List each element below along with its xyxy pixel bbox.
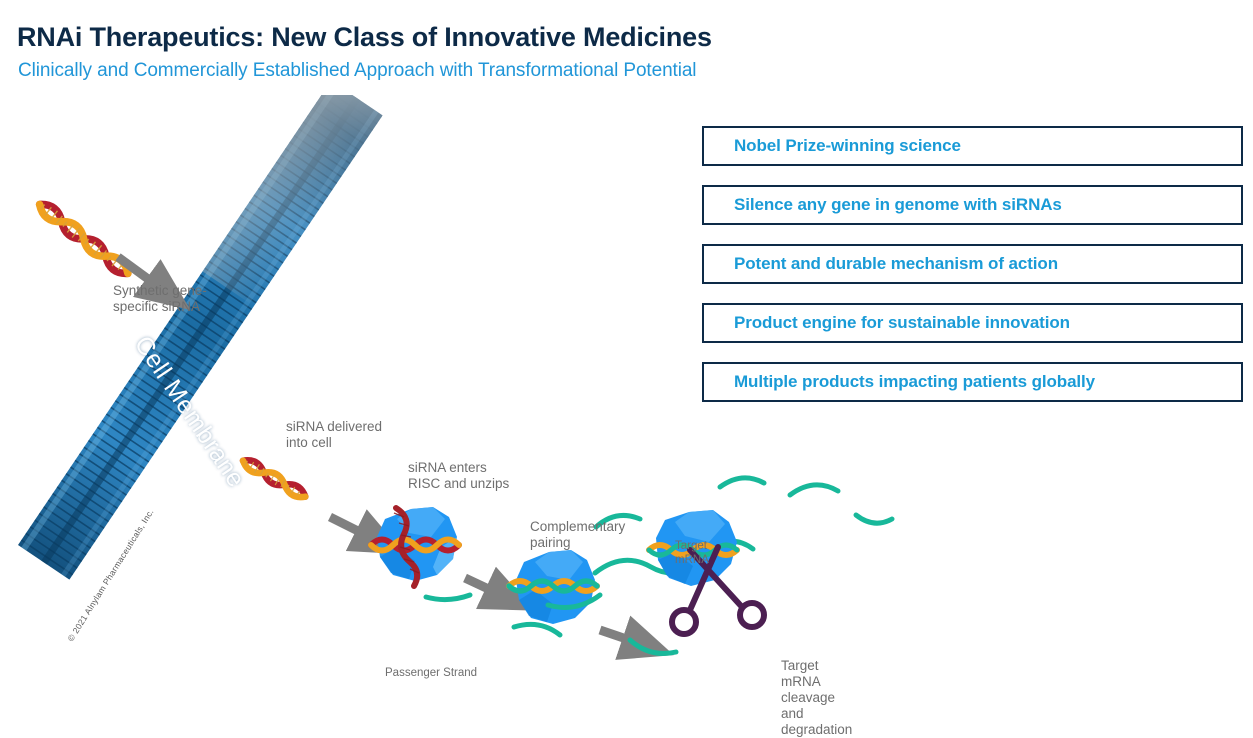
callout-nobel-prize[interactable]: Nobel Prize-winning science (702, 126, 1243, 166)
callout-label: Multiple products impacting patients glo… (704, 372, 1095, 392)
slide-root: RNAi Therapeutics: New Class of Innovati… (0, 0, 1253, 675)
label-complementary-pairing: Complementary pairing (530, 519, 625, 551)
sirna-duplex-extracellular (36, 200, 132, 278)
page-title: RNAi Therapeutics: New Class of Innovati… (17, 22, 712, 53)
callout-label: Potent and durable mechanism of action (704, 254, 1058, 274)
cell-membrane (18, 95, 383, 580)
rnai-mechanism-diagram: Synthetic gene- specific siRNA siRNA del… (0, 95, 700, 675)
label-sirna-delivered: siRNA delivered into cell (286, 419, 382, 451)
label-sirna-enters-risc: siRNA enters RISC and unzips (408, 460, 509, 492)
callout-silence-any-gene[interactable]: Silence any gene in genome with siRNAs (702, 185, 1243, 225)
callout-label: Nobel Prize-winning science (704, 136, 961, 156)
label-mrna-cleavage: Target mRNA cleavage and degradation (781, 658, 852, 738)
page-subtitle: Clinically and Commercially Established … (18, 60, 696, 82)
label-passenger-strand: Passenger Strand (385, 666, 477, 680)
callout-label: Silence any gene in genome with siRNAs (704, 195, 1062, 215)
label-synthetic-sirna: Synthetic gene- specific siRNA (113, 283, 207, 315)
sirna-duplex-intracellular (241, 456, 308, 501)
arrow-to-pairing (465, 578, 512, 600)
callout-label: Product engine for sustainable innovatio… (704, 313, 1070, 333)
callout-product-engine[interactable]: Product engine for sustainable innovatio… (702, 303, 1243, 343)
risc-complex-pairing (509, 550, 597, 624)
callout-potent-durable[interactable]: Potent and durable mechanism of action (702, 244, 1243, 284)
callout-multiple-products[interactable]: Multiple products impacting patients glo… (702, 362, 1243, 402)
key-points-list: Nobel Prize-winning science Silence any … (702, 126, 1243, 421)
label-target-mrna: Target mRNA (675, 539, 709, 567)
arrow-to-cleavage (600, 630, 650, 647)
